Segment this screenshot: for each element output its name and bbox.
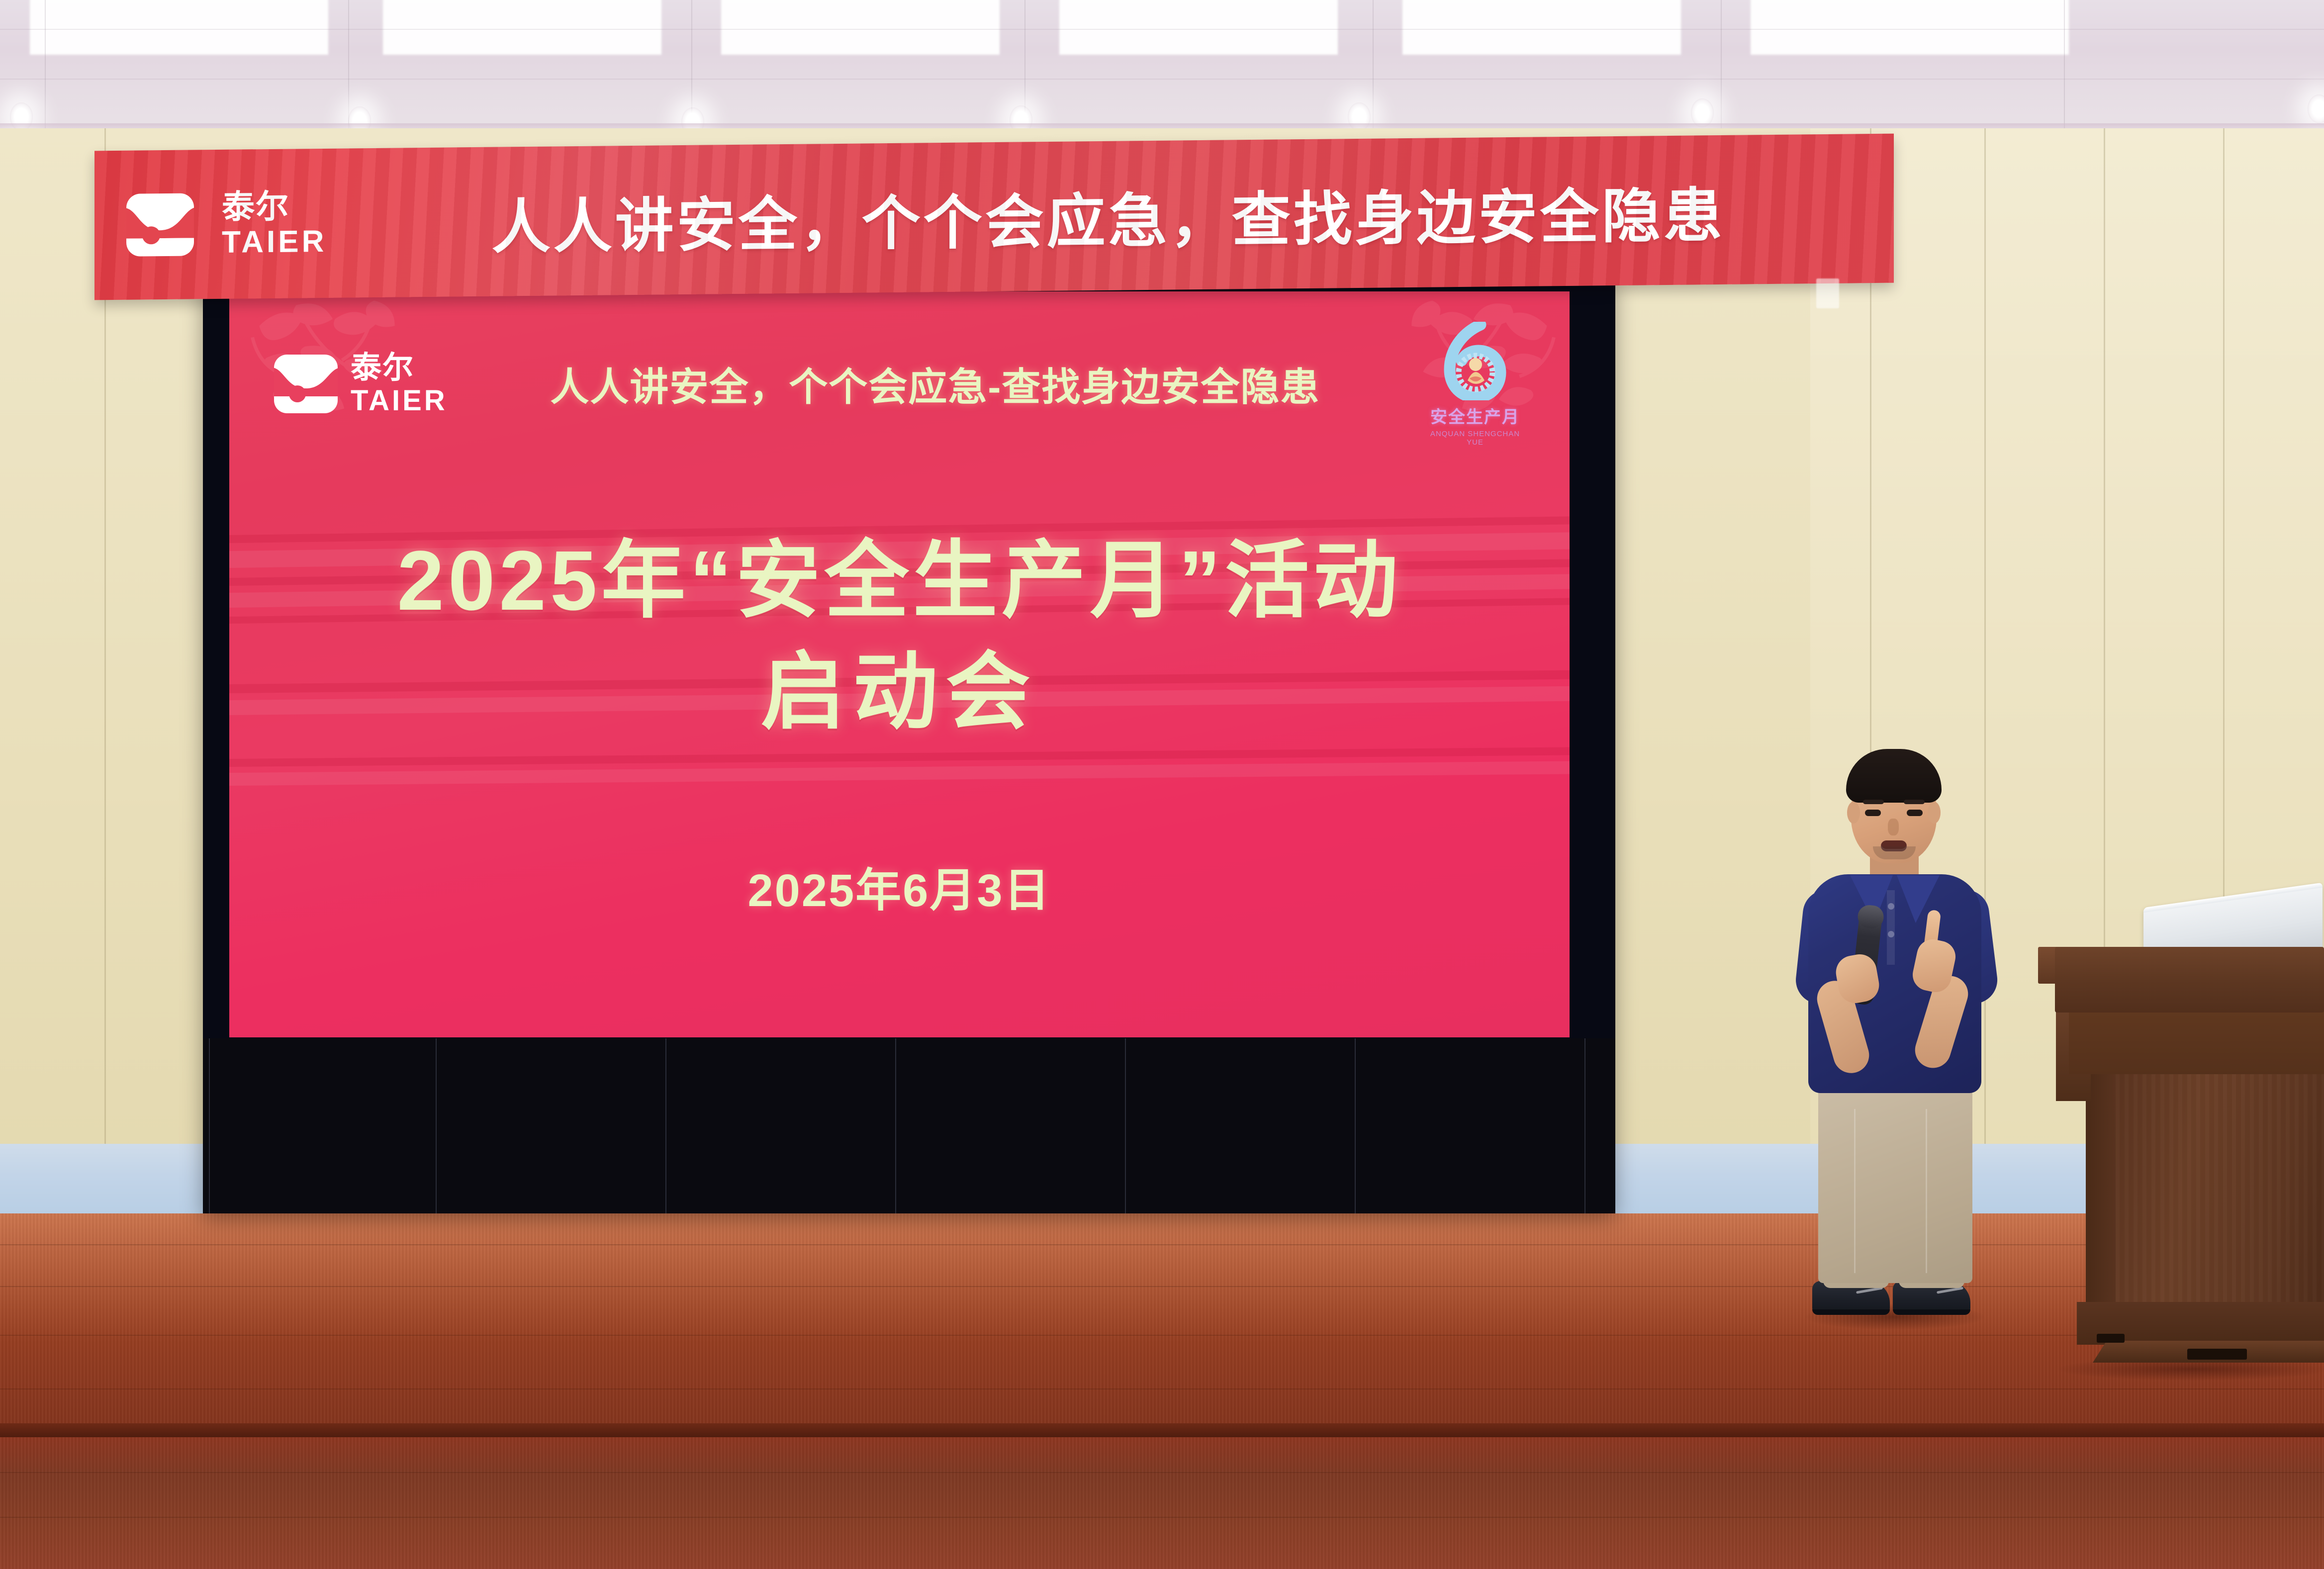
podium-cable-slot [2187,1349,2247,1360]
banner-logo-cn: 泰尔 [222,189,327,223]
safety-month-label: 安全生产月 [1423,403,1527,428]
banner-logo-en: TAIER [222,226,327,258]
led-display-screen: 泰尔 TAIER 人人讲安全，个个会应急-查找身边安全隐患 [203,278,1615,1213]
podium-cable-slot [2097,1334,2125,1343]
ceiling-downlight [2308,94,2324,123]
banner-tape [1816,278,1839,308]
taier-logo-mark-icon [274,355,338,413]
stage-front-lip [0,1423,2324,1438]
stage-foreground-floor [0,1437,2324,1569]
taier-logo-en: TAIER [351,386,448,415]
wooden-podium [2038,895,2324,1397]
podium-body [2116,1072,2324,1304]
speaker-pants [1818,1084,1972,1283]
speaker-nose [1888,819,1899,835]
speaker-hair [1846,749,1942,803]
led-screen-content: 泰尔 TAIER 人人讲安全，个个会应急-查找身边安全隐患 [229,291,1570,1037]
banner-slogan: 人人讲安全，个个会应急，查找身边安全隐患 [355,166,1862,266]
screen-lower-panels [203,1038,1615,1213]
taier-logo: 泰尔 TAIER [274,353,448,415]
speaker-shirt-placket [1887,890,1895,965]
screen-main-title: 2025年“安全生产月”活动 启动会 [229,525,1570,748]
screen-title-line1: 2025年“安全生产月”活动 [229,525,1570,637]
speaker-person [1790,741,1999,1328]
screen-slogan: 人人讲安全，个个会应急-查找身边安全隐患 [448,356,1423,412]
speaker-chin [1873,846,1916,859]
safety-month-pinyin: ANQUAN SHENGCHAN YUE [1423,430,1527,447]
banner-taier-wordmark: 泰尔 TAIER [222,189,327,258]
podium-column [2086,1072,2119,1321]
ceiling [0,0,2324,130]
podium-top-surface [2055,947,2324,1013]
screen-header: 泰尔 TAIER 人人讲安全，个个会应急-查找身边安全隐患 [274,334,1527,434]
podium-mid-band [2069,1011,2324,1074]
taier-logo-cn: 泰尔 [351,353,448,383]
screen-date: 2025年6月3日 [229,853,1570,920]
safety-month-badge: 安全生产月 ANQUAN SHENGCHAN YUE [1423,322,1527,447]
banner-taier-logo-mark-icon [126,193,194,256]
overhead-red-banner: 泰尔 TAIER 人人讲安全，个个会应急，查找身边安全隐患 [94,134,1894,300]
safety-month-numeral-icon [1438,322,1512,400]
screen-title-line2: 启动会 [229,637,1570,748]
photo-scene: 泰尔 TAIER 人人讲安全，个个会应急-查找身边安全隐患 [0,0,2324,1569]
